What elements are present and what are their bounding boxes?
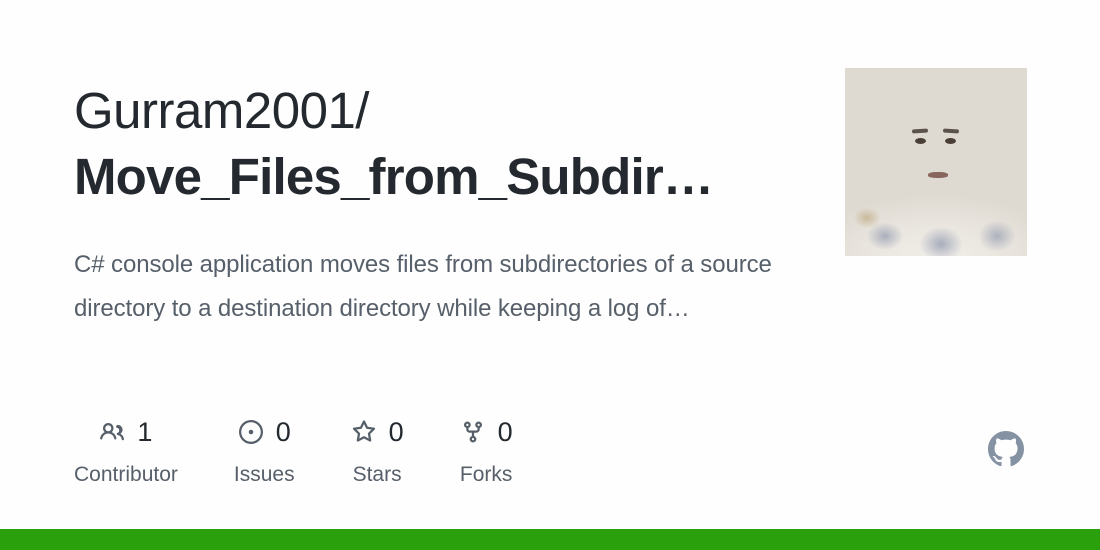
repo-forked-icon — [460, 419, 486, 445]
github-social-preview-card: Gurram2001/ Move_Files_from_Subdir… C# c… — [0, 0, 1100, 550]
stat-forks-value: 0 — [498, 419, 513, 446]
repository-title: Gurram2001/ Move_Files_from_Subdir… — [74, 78, 774, 210]
stat-issues-value: 0 — [276, 419, 291, 446]
accent-band — [0, 529, 1100, 550]
github-logo-icon — [988, 431, 1024, 467]
stat-forks-label: Forks — [460, 463, 513, 487]
stat-stars-top: 0 — [351, 415, 404, 449]
repository-description: C# console application moves files from … — [74, 243, 786, 331]
people-icon — [99, 419, 125, 445]
avatar-detail — [945, 138, 956, 144]
avatar-detail — [915, 138, 926, 144]
stat-issues: 0 Issues — [234, 415, 295, 487]
avatar-photo — [845, 68, 1027, 256]
stat-forks: 0 Forks — [460, 415, 513, 487]
avatar — [845, 68, 1027, 256]
star-icon — [351, 419, 377, 445]
stat-forks-top: 0 — [460, 415, 513, 449]
stat-issues-top: 0 — [238, 415, 291, 449]
stat-contributors: 1 Contributor — [74, 415, 178, 487]
repository-stats: 1 Contributor 0 Issues — [74, 415, 714, 487]
avatar-detail — [928, 172, 948, 178]
stat-contributors-value: 1 — [137, 419, 152, 446]
stat-issues-label: Issues — [234, 463, 295, 487]
stat-contributors-top: 1 — [99, 415, 152, 449]
repository-name: Move_Files_from_Subdir… — [74, 144, 774, 210]
stat-stars: 0 Stars — [351, 415, 404, 487]
stat-contributors-label: Contributor — [74, 463, 178, 487]
repository-owner: Gurram2001/ — [74, 78, 774, 144]
stat-stars-value: 0 — [389, 419, 404, 446]
stat-stars-label: Stars — [353, 463, 402, 487]
issue-opened-icon — [238, 419, 264, 445]
